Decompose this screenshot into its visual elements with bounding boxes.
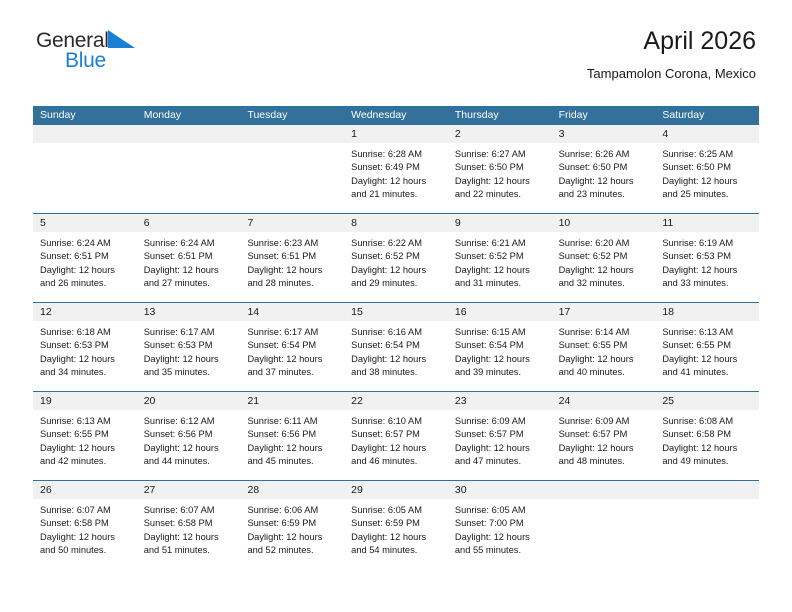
day-number: 1: [344, 125, 448, 143]
calendar-day-cell[interactable]: 10Sunrise: 6:20 AMSunset: 6:52 PMDayligh…: [552, 214, 656, 302]
weekday-header-saturday: Saturday: [655, 106, 759, 125]
daylight-text-line2: and 54 minutes.: [351, 544, 441, 557]
calendar-day-cell[interactable]: 23Sunrise: 6:09 AMSunset: 6:57 PMDayligh…: [448, 392, 552, 480]
day-number: 29: [344, 481, 448, 499]
day-sun-info: Sunrise: 6:23 AMSunset: 6:51 PMDaylight:…: [240, 232, 344, 302]
daylight-text-line2: and 38 minutes.: [351, 366, 441, 379]
daylight-text-line1: Daylight: 12 hours: [455, 353, 545, 366]
sunset-text: Sunset: 6:56 PM: [247, 428, 337, 441]
daylight-text-line2: and 55 minutes.: [455, 544, 545, 557]
day-number: 5: [33, 214, 137, 232]
daylight-text-line2: and 47 minutes.: [455, 455, 545, 468]
daylight-text-line2: and 40 minutes.: [559, 366, 649, 379]
day-number: 7: [240, 214, 344, 232]
day-sun-info: Sunrise: 6:25 AMSunset: 6:50 PMDaylight:…: [655, 143, 759, 213]
daylight-text-line2: and 31 minutes.: [455, 277, 545, 290]
daylight-text-line1: Daylight: 12 hours: [144, 353, 234, 366]
sunrise-text: Sunrise: 6:27 AM: [455, 148, 545, 161]
calendar-day-cell[interactable]: 19Sunrise: 6:13 AMSunset: 6:55 PMDayligh…: [33, 392, 137, 480]
daylight-text-line2: and 41 minutes.: [662, 366, 752, 379]
day-number: 11: [655, 214, 759, 232]
daylight-text-line1: Daylight: 12 hours: [247, 264, 337, 277]
daylight-text-line2: and 21 minutes.: [351, 188, 441, 201]
daylight-text-line2: and 37 minutes.: [247, 366, 337, 379]
day-number: 4: [655, 125, 759, 143]
calendar-day-cell[interactable]: 28Sunrise: 6:06 AMSunset: 6:59 PMDayligh…: [240, 481, 344, 569]
day-sun-info: Sunrise: 6:19 AMSunset: 6:53 PMDaylight:…: [655, 232, 759, 302]
sunrise-text: Sunrise: 6:17 AM: [247, 326, 337, 339]
day-number: 13: [137, 303, 241, 321]
sunset-text: Sunset: 6:51 PM: [247, 250, 337, 263]
weekday-header-monday: Monday: [137, 106, 241, 125]
day-sun-info: Sunrise: 6:08 AMSunset: 6:58 PMDaylight:…: [655, 410, 759, 480]
weekday-header-thursday: Thursday: [448, 106, 552, 125]
day-sun-info: Sunrise: 6:13 AMSunset: 6:55 PMDaylight:…: [655, 321, 759, 391]
daylight-text-line1: Daylight: 12 hours: [559, 264, 649, 277]
day-sun-info: Sunrise: 6:09 AMSunset: 6:57 PMDaylight:…: [448, 410, 552, 480]
daylight-text-line2: and 22 minutes.: [455, 188, 545, 201]
sunset-text: Sunset: 6:58 PM: [662, 428, 752, 441]
day-number: 9: [448, 214, 552, 232]
daylight-text-line1: Daylight: 12 hours: [455, 264, 545, 277]
day-sun-info: Sunrise: 6:24 AMSunset: 6:51 PMDaylight:…: [137, 232, 241, 302]
calendar-day-cell[interactable]: 6Sunrise: 6:24 AMSunset: 6:51 PMDaylight…: [137, 214, 241, 302]
daylight-text-line1: Daylight: 12 hours: [662, 442, 752, 455]
day-sun-info: Sunrise: 6:12 AMSunset: 6:56 PMDaylight:…: [137, 410, 241, 480]
daylight-text-line1: Daylight: 12 hours: [144, 264, 234, 277]
sunrise-text: Sunrise: 6:13 AM: [40, 415, 130, 428]
sunrise-text: Sunrise: 6:11 AM: [247, 415, 337, 428]
daylight-text-line1: Daylight: 12 hours: [559, 442, 649, 455]
daylight-text-line1: Daylight: 12 hours: [351, 264, 441, 277]
daylight-text-line1: Daylight: 12 hours: [351, 175, 441, 188]
day-sun-info: Sunrise: 6:10 AMSunset: 6:57 PMDaylight:…: [344, 410, 448, 480]
sunrise-text: Sunrise: 6:10 AM: [351, 415, 441, 428]
weekday-header-friday: Friday: [552, 106, 656, 125]
sunset-text: Sunset: 6:55 PM: [559, 339, 649, 352]
calendar-weeks: 1Sunrise: 6:28 AMSunset: 6:49 PMDaylight…: [33, 125, 759, 569]
daylight-text-line1: Daylight: 12 hours: [662, 175, 752, 188]
sunrise-text: Sunrise: 6:07 AM: [40, 504, 130, 517]
sunrise-text: Sunrise: 6:18 AM: [40, 326, 130, 339]
day-sun-info: Sunrise: 6:05 AMSunset: 7:00 PMDaylight:…: [448, 499, 552, 569]
day-sun-info: [240, 143, 344, 213]
daylight-text-line2: and 35 minutes.: [144, 366, 234, 379]
day-sun-info: Sunrise: 6:05 AMSunset: 6:59 PMDaylight:…: [344, 499, 448, 569]
sunrise-text: Sunrise: 6:16 AM: [351, 326, 441, 339]
calendar-week-row: 1Sunrise: 6:28 AMSunset: 6:49 PMDaylight…: [33, 125, 759, 213]
calendar-day-cell[interactable]: 24Sunrise: 6:09 AMSunset: 6:57 PMDayligh…: [552, 392, 656, 480]
day-number: 27: [137, 481, 241, 499]
daylight-text-line1: Daylight: 12 hours: [351, 531, 441, 544]
day-number: 23: [448, 392, 552, 410]
sunrise-text: Sunrise: 6:23 AM: [247, 237, 337, 250]
daylight-text-line2: and 27 minutes.: [144, 277, 234, 290]
calendar-day-cell[interactable]: 14Sunrise: 6:17 AMSunset: 6:54 PMDayligh…: [240, 303, 344, 391]
daylight-text-line2: and 39 minutes.: [455, 366, 545, 379]
calendar-day-cell[interactable]: 26Sunrise: 6:07 AMSunset: 6:58 PMDayligh…: [33, 481, 137, 569]
sunset-text: Sunset: 6:55 PM: [662, 339, 752, 352]
daylight-text-line1: Daylight: 12 hours: [455, 531, 545, 544]
day-number: 19: [33, 392, 137, 410]
day-sun-info: Sunrise: 6:24 AMSunset: 6:51 PMDaylight:…: [33, 232, 137, 302]
day-sun-info: Sunrise: 6:28 AMSunset: 6:49 PMDaylight:…: [344, 143, 448, 213]
daylight-text-line1: Daylight: 12 hours: [247, 442, 337, 455]
daylight-text-line1: Daylight: 12 hours: [351, 353, 441, 366]
sunset-text: Sunset: 6:52 PM: [455, 250, 545, 263]
daylight-text-line1: Daylight: 12 hours: [455, 175, 545, 188]
sunrise-text: Sunrise: 6:28 AM: [351, 148, 441, 161]
sunrise-text: Sunrise: 6:20 AM: [559, 237, 649, 250]
day-number: 20: [137, 392, 241, 410]
daylight-text-line2: and 32 minutes.: [559, 277, 649, 290]
calendar-week-row: 5Sunrise: 6:24 AMSunset: 6:51 PMDaylight…: [33, 213, 759, 302]
calendar-day-cell[interactable]: 5Sunrise: 6:24 AMSunset: 6:51 PMDaylight…: [33, 214, 137, 302]
daylight-text-line1: Daylight: 12 hours: [351, 442, 441, 455]
day-number: 26: [33, 481, 137, 499]
calendar-day-cell[interactable]: 21Sunrise: 6:11 AMSunset: 6:56 PMDayligh…: [240, 392, 344, 480]
calendar-day-cell[interactable]: 3Sunrise: 6:26 AMSunset: 6:50 PMDaylight…: [552, 125, 656, 213]
daylight-text-line2: and 28 minutes.: [247, 277, 337, 290]
sunset-text: Sunset: 6:58 PM: [40, 517, 130, 530]
day-sun-info: Sunrise: 6:26 AMSunset: 6:50 PMDaylight:…: [552, 143, 656, 213]
daylight-text-line2: and 46 minutes.: [351, 455, 441, 468]
calendar-day-cell[interactable]: 15Sunrise: 6:16 AMSunset: 6:54 PMDayligh…: [344, 303, 448, 391]
day-sun-info: Sunrise: 6:21 AMSunset: 6:52 PMDaylight:…: [448, 232, 552, 302]
sunset-text: Sunset: 6:50 PM: [662, 161, 752, 174]
day-number: 10: [552, 214, 656, 232]
calendar-day-cell[interactable]: 20Sunrise: 6:12 AMSunset: 6:56 PMDayligh…: [137, 392, 241, 480]
day-sun-info: Sunrise: 6:17 AMSunset: 6:53 PMDaylight:…: [137, 321, 241, 391]
sunset-text: Sunset: 6:51 PM: [144, 250, 234, 263]
calendar-day-cell[interactable]: 18Sunrise: 6:13 AMSunset: 6:55 PMDayligh…: [655, 303, 759, 391]
day-sun-info: Sunrise: 6:13 AMSunset: 6:55 PMDaylight:…: [33, 410, 137, 480]
sunset-text: Sunset: 6:53 PM: [662, 250, 752, 263]
calendar-day-cell-empty: [655, 481, 759, 569]
calendar-week-row: 19Sunrise: 6:13 AMSunset: 6:55 PMDayligh…: [33, 391, 759, 480]
sunset-text: Sunset: 6:52 PM: [559, 250, 649, 263]
logo-text-blue: Blue: [65, 50, 176, 71]
daylight-text-line2: and 42 minutes.: [40, 455, 130, 468]
sunrise-text: Sunrise: 6:24 AM: [40, 237, 130, 250]
daylight-text-line1: Daylight: 12 hours: [40, 353, 130, 366]
calendar-day-cell-empty: [552, 481, 656, 569]
calendar-week-row: 26Sunrise: 6:07 AMSunset: 6:58 PMDayligh…: [33, 480, 759, 569]
weekday-header-wednesday: Wednesday: [344, 106, 448, 125]
day-sun-info: Sunrise: 6:07 AMSunset: 6:58 PMDaylight:…: [137, 499, 241, 569]
day-number: [33, 125, 137, 143]
day-number: 28: [240, 481, 344, 499]
calendar-day-cell[interactable]: 11Sunrise: 6:19 AMSunset: 6:53 PMDayligh…: [655, 214, 759, 302]
calendar-grid: Sunday Monday Tuesday Wednesday Thursday…: [33, 106, 759, 569]
day-sun-info: Sunrise: 6:14 AMSunset: 6:55 PMDaylight:…: [552, 321, 656, 391]
sunset-text: Sunset: 6:52 PM: [351, 250, 441, 263]
day-sun-info: Sunrise: 6:16 AMSunset: 6:54 PMDaylight:…: [344, 321, 448, 391]
day-number: 3: [552, 125, 656, 143]
sunrise-text: Sunrise: 6:25 AM: [662, 148, 752, 161]
daylight-text-line2: and 29 minutes.: [351, 277, 441, 290]
day-number: 21: [240, 392, 344, 410]
calendar-day-cell[interactable]: 9Sunrise: 6:21 AMSunset: 6:52 PMDaylight…: [448, 214, 552, 302]
daylight-text-line1: Daylight: 12 hours: [247, 353, 337, 366]
day-sun-info: Sunrise: 6:18 AMSunset: 6:53 PMDaylight:…: [33, 321, 137, 391]
day-sun-info: Sunrise: 6:17 AMSunset: 6:54 PMDaylight:…: [240, 321, 344, 391]
daylight-text-line2: and 44 minutes.: [144, 455, 234, 468]
daylight-text-line1: Daylight: 12 hours: [40, 264, 130, 277]
sunrise-text: Sunrise: 6:07 AM: [144, 504, 234, 517]
calendar-day-cell[interactable]: 17Sunrise: 6:14 AMSunset: 6:55 PMDayligh…: [552, 303, 656, 391]
day-sun-info: [655, 499, 759, 569]
day-sun-info: Sunrise: 6:20 AMSunset: 6:52 PMDaylight:…: [552, 232, 656, 302]
day-number: 16: [448, 303, 552, 321]
daylight-text-line2: and 45 minutes.: [247, 455, 337, 468]
daylight-text-line1: Daylight: 12 hours: [40, 531, 130, 544]
calendar-day-cell[interactable]: 1Sunrise: 6:28 AMSunset: 6:49 PMDaylight…: [344, 125, 448, 213]
day-number: 2: [448, 125, 552, 143]
day-number: 14: [240, 303, 344, 321]
daylight-text-line1: Daylight: 12 hours: [559, 175, 649, 188]
sunrise-text: Sunrise: 6:17 AM: [144, 326, 234, 339]
day-sun-info: Sunrise: 6:11 AMSunset: 6:56 PMDaylight:…: [240, 410, 344, 480]
logo-triangle-icon: [108, 30, 135, 53]
daylight-text-line2: and 48 minutes.: [559, 455, 649, 468]
daylight-text-line1: Daylight: 12 hours: [40, 442, 130, 455]
day-number: 25: [655, 392, 759, 410]
sunset-text: Sunset: 6:53 PM: [40, 339, 130, 352]
calendar-day-cell-empty: [137, 125, 241, 213]
day-number: 30: [448, 481, 552, 499]
sunset-text: Sunset: 6:55 PM: [40, 428, 130, 441]
daylight-text-line2: and 52 minutes.: [247, 544, 337, 557]
calendar-day-cell[interactable]: 25Sunrise: 6:08 AMSunset: 6:58 PMDayligh…: [655, 392, 759, 480]
daylight-text-line2: and 49 minutes.: [662, 455, 752, 468]
daylight-text-line2: and 51 minutes.: [144, 544, 234, 557]
day-number: [137, 125, 241, 143]
sunset-text: Sunset: 6:56 PM: [144, 428, 234, 441]
general-blue-logo[interactable]: General Blue: [36, 30, 176, 76]
daylight-text-line1: Daylight: 12 hours: [144, 442, 234, 455]
day-number: [655, 481, 759, 499]
sunrise-text: Sunrise: 6:26 AM: [559, 148, 649, 161]
sunrise-text: Sunrise: 6:08 AM: [662, 415, 752, 428]
daylight-text-line1: Daylight: 12 hours: [455, 442, 545, 455]
sunrise-text: Sunrise: 6:06 AM: [247, 504, 337, 517]
sunrise-text: Sunrise: 6:09 AM: [455, 415, 545, 428]
sunset-text: Sunset: 6:57 PM: [455, 428, 545, 441]
sunset-text: Sunset: 6:51 PM: [40, 250, 130, 263]
sunrise-text: Sunrise: 6:24 AM: [144, 237, 234, 250]
sunrise-text: Sunrise: 6:12 AM: [144, 415, 234, 428]
daylight-text-line2: and 34 minutes.: [40, 366, 130, 379]
daylight-text-line1: Daylight: 12 hours: [662, 353, 752, 366]
daylight-text-line1: Daylight: 12 hours: [662, 264, 752, 277]
day-sun-info: [33, 143, 137, 213]
day-sun-info: Sunrise: 6:06 AMSunset: 6:59 PMDaylight:…: [240, 499, 344, 569]
sunset-text: Sunset: 6:57 PM: [559, 428, 649, 441]
daylight-text-line1: Daylight: 12 hours: [559, 353, 649, 366]
sunset-text: Sunset: 6:50 PM: [455, 161, 545, 174]
day-number: 18: [655, 303, 759, 321]
sunrise-text: Sunrise: 6:14 AM: [559, 326, 649, 339]
day-sun-info: Sunrise: 6:07 AMSunset: 6:58 PMDaylight:…: [33, 499, 137, 569]
weekday-header-row: Sunday Monday Tuesday Wednesday Thursday…: [33, 106, 759, 125]
page-header: General Blue April 2026 Tampamolon Coron…: [0, 0, 792, 72]
day-sun-info: Sunrise: 6:09 AMSunset: 6:57 PMDaylight:…: [552, 410, 656, 480]
day-number: 6: [137, 214, 241, 232]
calendar-day-cell[interactable]: 4Sunrise: 6:25 AMSunset: 6:50 PMDaylight…: [655, 125, 759, 213]
calendar-day-cell[interactable]: 27Sunrise: 6:07 AMSunset: 6:58 PMDayligh…: [137, 481, 241, 569]
day-number: 24: [552, 392, 656, 410]
daylight-text-line2: and 25 minutes.: [662, 188, 752, 201]
calendar-week-row: 12Sunrise: 6:18 AMSunset: 6:53 PMDayligh…: [33, 302, 759, 391]
sunrise-text: Sunrise: 6:05 AM: [455, 504, 545, 517]
day-number: 12: [33, 303, 137, 321]
sunrise-text: Sunrise: 6:21 AM: [455, 237, 545, 250]
calendar-day-cell[interactable]: 12Sunrise: 6:18 AMSunset: 6:53 PMDayligh…: [33, 303, 137, 391]
daylight-text-line2: and 23 minutes.: [559, 188, 649, 201]
daylight-text-line1: Daylight: 12 hours: [247, 531, 337, 544]
sunset-text: Sunset: 6:49 PM: [351, 161, 441, 174]
calendar-day-cell[interactable]: 13Sunrise: 6:17 AMSunset: 6:53 PMDayligh…: [137, 303, 241, 391]
day-number: 15: [344, 303, 448, 321]
sunrise-text: Sunrise: 6:09 AM: [559, 415, 649, 428]
calendar-day-cell-empty: [240, 125, 344, 213]
sunset-text: Sunset: 6:54 PM: [455, 339, 545, 352]
page-title: April 2026: [587, 26, 756, 56]
sunset-text: Sunset: 7:00 PM: [455, 517, 545, 530]
day-number: [240, 125, 344, 143]
sunrise-text: Sunrise: 6:22 AM: [351, 237, 441, 250]
title-block: April 2026 Tampamolon Corona, Mexico: [587, 26, 756, 83]
day-sun-info: Sunrise: 6:27 AMSunset: 6:50 PMDaylight:…: [448, 143, 552, 213]
weekday-header-tuesday: Tuesday: [240, 106, 344, 125]
day-number: 17: [552, 303, 656, 321]
day-sun-info: Sunrise: 6:22 AMSunset: 6:52 PMDaylight:…: [344, 232, 448, 302]
sunset-text: Sunset: 6:57 PM: [351, 428, 441, 441]
day-number: 22: [344, 392, 448, 410]
calendar-day-cell[interactable]: 16Sunrise: 6:15 AMSunset: 6:54 PMDayligh…: [448, 303, 552, 391]
daylight-text-line2: and 50 minutes.: [40, 544, 130, 557]
weekday-header-sunday: Sunday: [33, 106, 137, 125]
calendar-day-cell[interactable]: 2Sunrise: 6:27 AMSunset: 6:50 PMDaylight…: [448, 125, 552, 213]
day-sun-info: Sunrise: 6:15 AMSunset: 6:54 PMDaylight:…: [448, 321, 552, 391]
daylight-text-line2: and 33 minutes.: [662, 277, 752, 290]
day-sun-info: [137, 143, 241, 213]
daylight-text-line1: Daylight: 12 hours: [144, 531, 234, 544]
page-subtitle: Tampamolon Corona, Mexico: [587, 65, 756, 83]
calendar-day-cell[interactable]: 22Sunrise: 6:10 AMSunset: 6:57 PMDayligh…: [344, 392, 448, 480]
calendar-day-cell[interactable]: 30Sunrise: 6:05 AMSunset: 7:00 PMDayligh…: [448, 481, 552, 569]
sunset-text: Sunset: 6:53 PM: [144, 339, 234, 352]
day-number: [552, 481, 656, 499]
sunrise-text: Sunrise: 6:13 AM: [662, 326, 752, 339]
daylight-text-line2: and 26 minutes.: [40, 277, 130, 290]
sunrise-text: Sunrise: 6:15 AM: [455, 326, 545, 339]
sunset-text: Sunset: 6:54 PM: [351, 339, 441, 352]
sunrise-text: Sunrise: 6:05 AM: [351, 504, 441, 517]
sunset-text: Sunset: 6:50 PM: [559, 161, 649, 174]
calendar-day-cell[interactable]: 7Sunrise: 6:23 AMSunset: 6:51 PMDaylight…: [240, 214, 344, 302]
day-sun-info: [552, 499, 656, 569]
calendar-day-cell[interactable]: 29Sunrise: 6:05 AMSunset: 6:59 PMDayligh…: [344, 481, 448, 569]
sunrise-text: Sunrise: 6:19 AM: [662, 237, 752, 250]
calendar-day-cell[interactable]: 8Sunrise: 6:22 AMSunset: 6:52 PMDaylight…: [344, 214, 448, 302]
calendar-day-cell-empty: [33, 125, 137, 213]
sunset-text: Sunset: 6:58 PM: [144, 517, 234, 530]
sunset-text: Sunset: 6:59 PM: [247, 517, 337, 530]
sunset-text: Sunset: 6:59 PM: [351, 517, 441, 530]
day-number: 8: [344, 214, 448, 232]
sunset-text: Sunset: 6:54 PM: [247, 339, 337, 352]
